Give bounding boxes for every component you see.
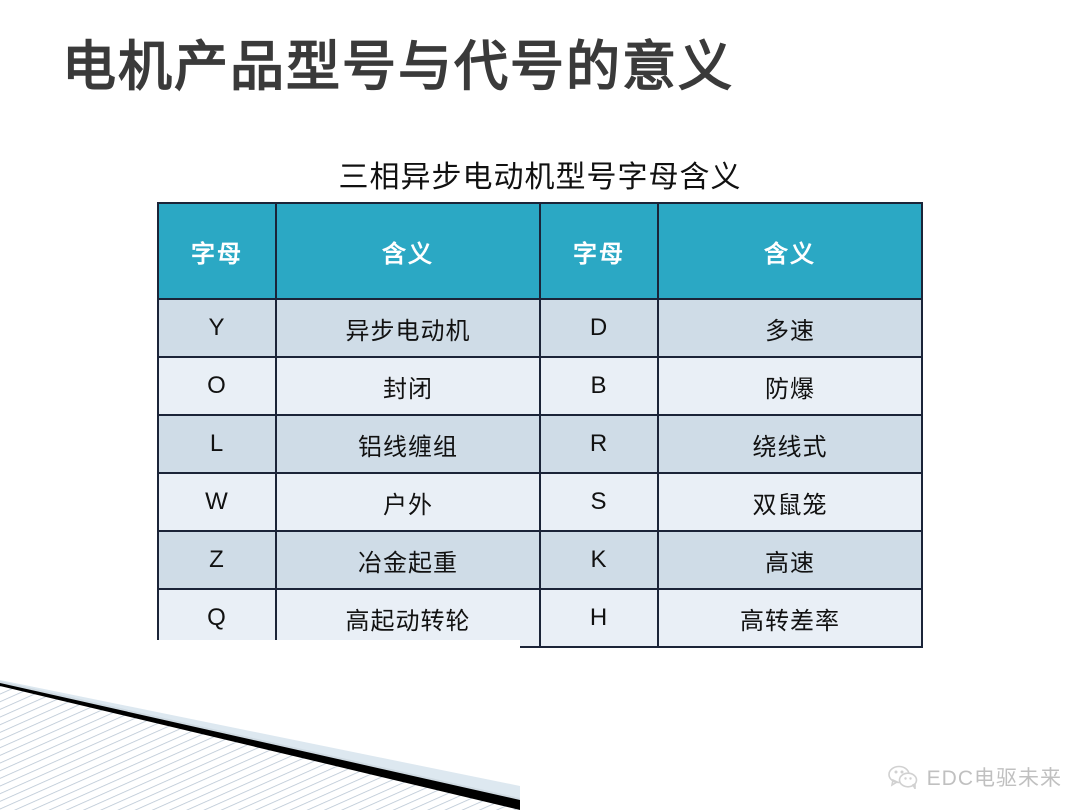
column-header-meaning-1: 含义 <box>276 203 540 299</box>
corner-decoration-graphic <box>0 640 520 810</box>
cell-letter-1: Z <box>158 531 276 589</box>
column-header-letter-1: 字母 <box>158 203 276 299</box>
cell-meaning-2: 高转差率 <box>658 589 922 647</box>
cell-letter-1: O <box>158 357 276 415</box>
column-header-letter-2: 字母 <box>540 203 658 299</box>
decoration-light-band <box>0 680 520 800</box>
cell-meaning-1: 户外 <box>276 473 540 531</box>
cell-letter-1: L <box>158 415 276 473</box>
table-row: L 铝线缠组 R 绕线式 <box>158 415 922 473</box>
cell-letter-2: H <box>540 589 658 647</box>
cell-letter-1: Q <box>158 589 276 647</box>
wechat-icon <box>888 765 918 789</box>
watermark-label: EDC电驱未来 <box>927 762 1062 792</box>
decoration-stripe-area <box>0 682 520 810</box>
cell-letter-1: W <box>158 473 276 531</box>
table-row: Z 冶金起重 K 高速 <box>158 531 922 589</box>
cell-meaning-2: 绕线式 <box>658 415 922 473</box>
decoration-white-overlay <box>0 640 520 780</box>
cell-meaning-1: 异步电动机 <box>276 299 540 357</box>
table-row: Y 异步电动机 D 多速 <box>158 299 922 357</box>
cell-letter-2: S <box>540 473 658 531</box>
cell-meaning-2: 高速 <box>658 531 922 589</box>
column-header-meaning-2: 含义 <box>658 203 922 299</box>
table-row: Q 高起动转轮 H 高转差率 <box>158 589 922 647</box>
table-row: W 户外 S 双鼠笼 <box>158 473 922 531</box>
page-title: 电机产品型号与代号的意义 <box>62 36 734 98</box>
cell-letter-2: K <box>540 531 658 589</box>
cell-meaning-2: 多速 <box>658 299 922 357</box>
table-row: O 封闭 B 防爆 <box>158 357 922 415</box>
footer-watermark: EDC电驱未来 <box>888 762 1062 792</box>
cell-meaning-1: 冶金起重 <box>276 531 540 589</box>
cell-letter-2: D <box>540 299 658 357</box>
cell-letter-2: B <box>540 357 658 415</box>
table-subtitle: 三相异步电动机型号字母含义 <box>0 152 1080 196</box>
cell-meaning-2: 防爆 <box>658 357 922 415</box>
table-header-row: 字母 含义 字母 含义 <box>158 203 922 299</box>
cell-letter-1: Y <box>158 299 276 357</box>
decoration-black-wedge <box>0 681 520 810</box>
cell-meaning-1: 封闭 <box>276 357 540 415</box>
cell-meaning-2: 双鼠笼 <box>658 473 922 531</box>
cell-meaning-1: 高起动转轮 <box>276 589 540 647</box>
motor-code-table: 字母 含义 字母 含义 Y 异步电动机 D 多速 O 封闭 B 防爆 L 铝线缠… <box>157 202 923 648</box>
cell-letter-2: R <box>540 415 658 473</box>
cell-meaning-1: 铝线缠组 <box>276 415 540 473</box>
